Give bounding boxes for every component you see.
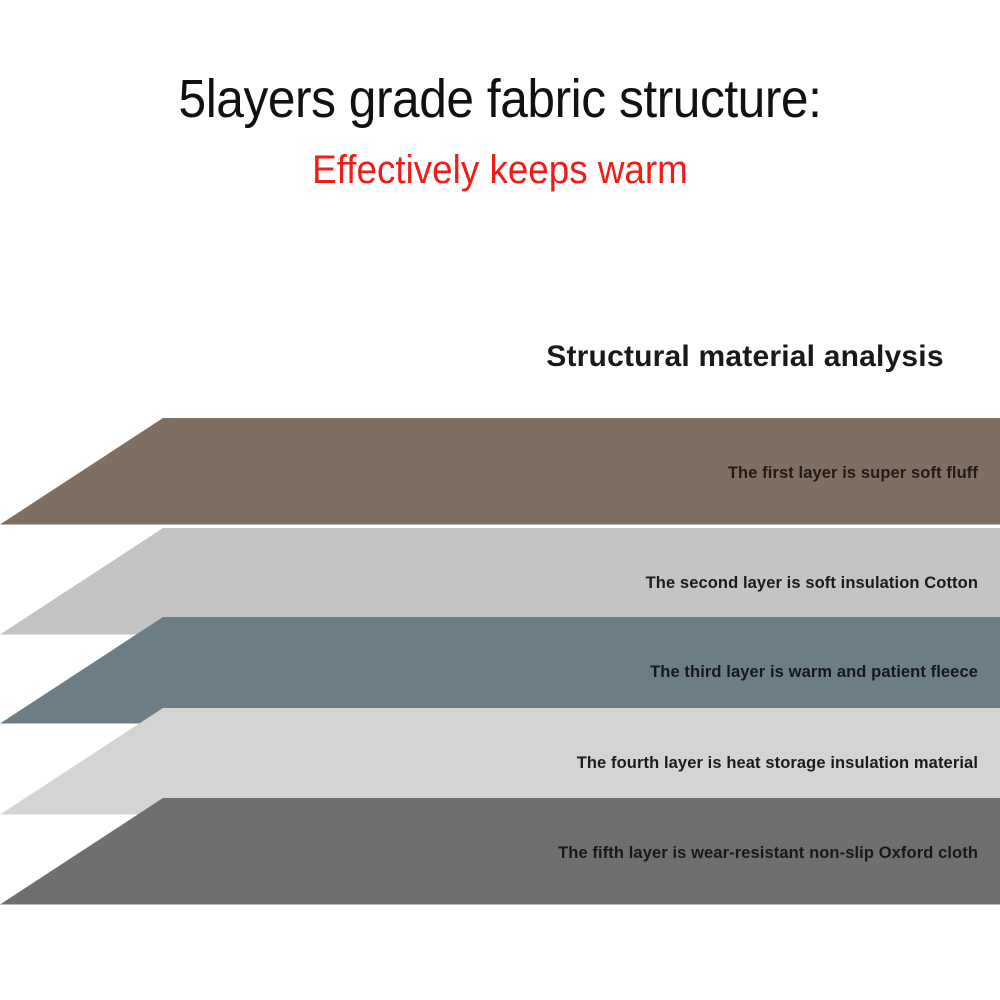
layer-item-1: The first layer is super soft fluff — [0, 418, 1000, 544]
layer-label-1: The first layer is super soft fluff — [728, 464, 1000, 483]
layer-label-2: The second layer is soft insulation Cott… — [646, 574, 1000, 593]
layer-label-4: The fourth layer is heat storage insulat… — [577, 754, 1000, 773]
layer-item-5: The fifth layer is wear-resistant non-sl… — [0, 798, 1000, 924]
layer-stack-diagram: The first layer is super soft fluff The … — [0, 0, 1000, 1000]
poster-root: 5layers grade fabric structure: Effectiv… — [0, 0, 1000, 1000]
layer-label-5: The fifth layer is wear-resistant non-sl… — [558, 844, 1000, 863]
layer-label-3: The third layer is warm and patient flee… — [650, 663, 1000, 682]
